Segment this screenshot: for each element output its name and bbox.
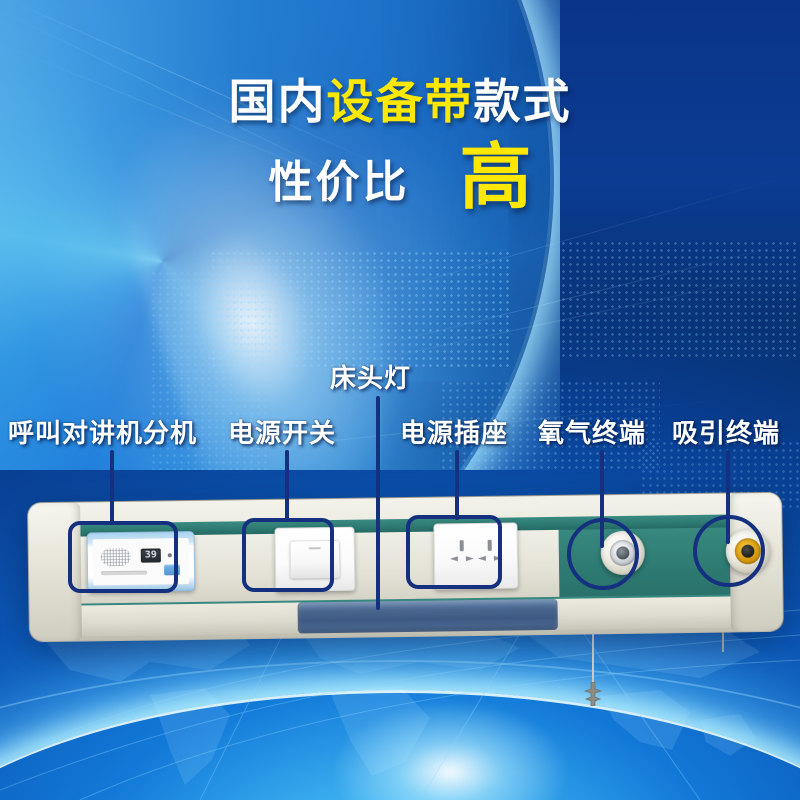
headline-line-2: 性价比 高 [0,143,800,211]
headline-line2-emphasis: 高 [459,143,531,211]
callout-label-suction: 吸引终端 [672,413,780,450]
leader-line-intercom [110,450,114,524]
highlight-ring-suction [693,515,765,587]
headline-line2-text: 性价比 [268,146,409,210]
callout-label-intercom: 呼叫对讲机分机 [8,413,197,450]
headline-line1-highlight: 设备带 [327,75,474,130]
leader-line-bed-lamp [376,396,380,610]
headline-line1-part1: 国内 [229,75,327,130]
callout-label-power-socket: 电源插座 [400,413,508,450]
hanging-cord [592,628,594,688]
headline-block: 国内设备带款式 性价比 高 [0,78,800,212]
highlight-box-power-switch [242,518,334,592]
headline-line-1: 国内设备带款式 [0,78,800,127]
callout-label-power-switch: 电源开关 [228,413,336,450]
hanging-plug-icon [580,682,606,706]
highlight-ring-oxygen [567,518,639,590]
leader-line-power-switch [285,450,289,522]
halftone-dots [560,240,800,360]
promo-banner: 国内设备带款式 性价比 高 呼叫对讲机分机 电源开关 床头灯 电源插座 氧气终端… [0,0,800,800]
callout-label-oxygen: 氧气终端 [538,413,646,450]
headline-line1-part2: 款式 [474,75,572,130]
bed-head-lamp-diffuser[interactable] [297,599,557,634]
callout-label-bed-lamp: 床头灯 [330,358,411,395]
highlight-box-intercom [68,521,178,593]
highlight-box-power-socket [406,515,502,589]
leader-line-power-socket [455,450,459,520]
